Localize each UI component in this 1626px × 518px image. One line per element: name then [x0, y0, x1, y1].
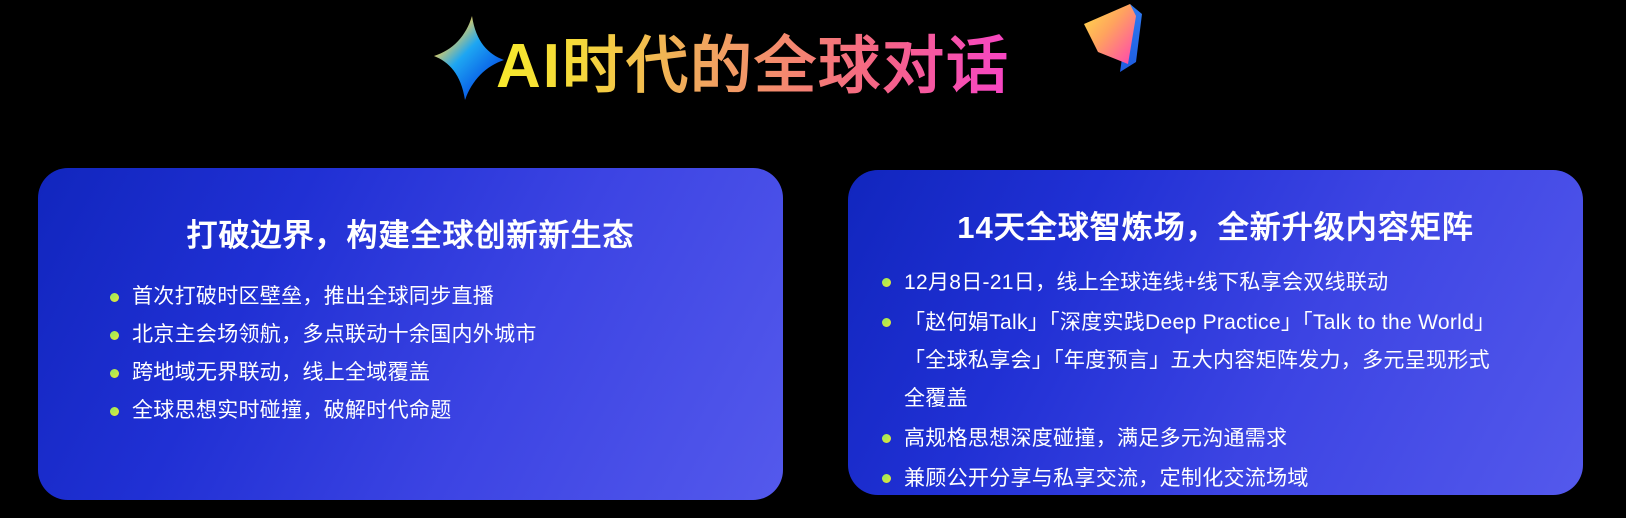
- bullet-list-right: 12月8日-21日，线上全球连线+线下私享会双线联动 「赵何娟Talk」「深度实…: [882, 264, 1492, 495]
- list-item-label: 高规格思想深度碰撞，满足多元沟通需求: [904, 427, 1287, 450]
- bullet-dot-icon: [882, 278, 891, 287]
- list-item-label: 12月8日-21日，线上全球连线+线下私享会双线联动: [904, 271, 1388, 294]
- card-title-left: 打破边界，构建全球创新新生态: [38, 216, 783, 256]
- list-item: 首次打破时区壁垒，推出全球同步直播: [110, 278, 783, 316]
- bullet-dot-icon: [882, 434, 891, 443]
- bullet-dot-icon: [882, 318, 891, 327]
- list-item-label: 全球思想实时碰撞，破解时代命题: [132, 399, 452, 422]
- list-item-label: 「赵何娟Talk」「深度实践Deep Practice」「Talk to the…: [904, 311, 1490, 410]
- list-item: 北京主会场领航，多点联动十余国内外城市: [110, 316, 783, 354]
- bullet-dot-icon: [110, 331, 119, 340]
- list-item: 12月8日-21日，线上全球连线+线下私享会双线联动: [882, 264, 1492, 302]
- bullet-dot-icon: [110, 293, 119, 302]
- list-item: 「赵何娟Talk」「深度实践Deep Practice」「Talk to the…: [882, 304, 1492, 418]
- list-item-label: 首次打破时区壁垒，推出全球同步直播: [132, 285, 494, 308]
- list-item-label: 跨地域无界联动，线上全域覆盖: [132, 361, 430, 384]
- bullet-dot-icon: [110, 369, 119, 378]
- info-card-14-day-matrix: 14天全球智炼场，全新升级内容矩阵 12月8日-21日，线上全球连线+线下私享会…: [848, 170, 1583, 495]
- card-title-right: 14天全球智炼场，全新升级内容矩阵: [848, 208, 1583, 248]
- list-item: 兼顾公开分享与私享交流，定制化交流场域: [882, 460, 1492, 495]
- info-card-break-boundaries: 打破边界，构建全球创新新生态 首次打破时区壁垒，推出全球同步直播 北京主会场领航…: [38, 168, 783, 500]
- card-grid: 打破边界，构建全球创新新生态 首次打破时区壁垒，推出全球同步直播 北京主会场领航…: [0, 0, 1626, 518]
- list-item-label: 兼顾公开分享与私享交流，定制化交流场域: [904, 467, 1309, 490]
- bullet-dot-icon: [882, 474, 891, 483]
- list-item: 跨地域无界联动，线上全域覆盖: [110, 354, 783, 392]
- bullet-list-left: 首次打破时区壁垒，推出全球同步直播 北京主会场领航，多点联动十余国内外城市 跨地…: [110, 278, 783, 430]
- list-item: 高规格思想深度碰撞，满足多元沟通需求: [882, 420, 1492, 458]
- bullet-dot-icon: [110, 407, 119, 416]
- list-item-label: 北京主会场领航，多点联动十余国内外城市: [132, 323, 537, 346]
- list-item: 全球思想实时碰撞，破解时代命题: [110, 392, 783, 430]
